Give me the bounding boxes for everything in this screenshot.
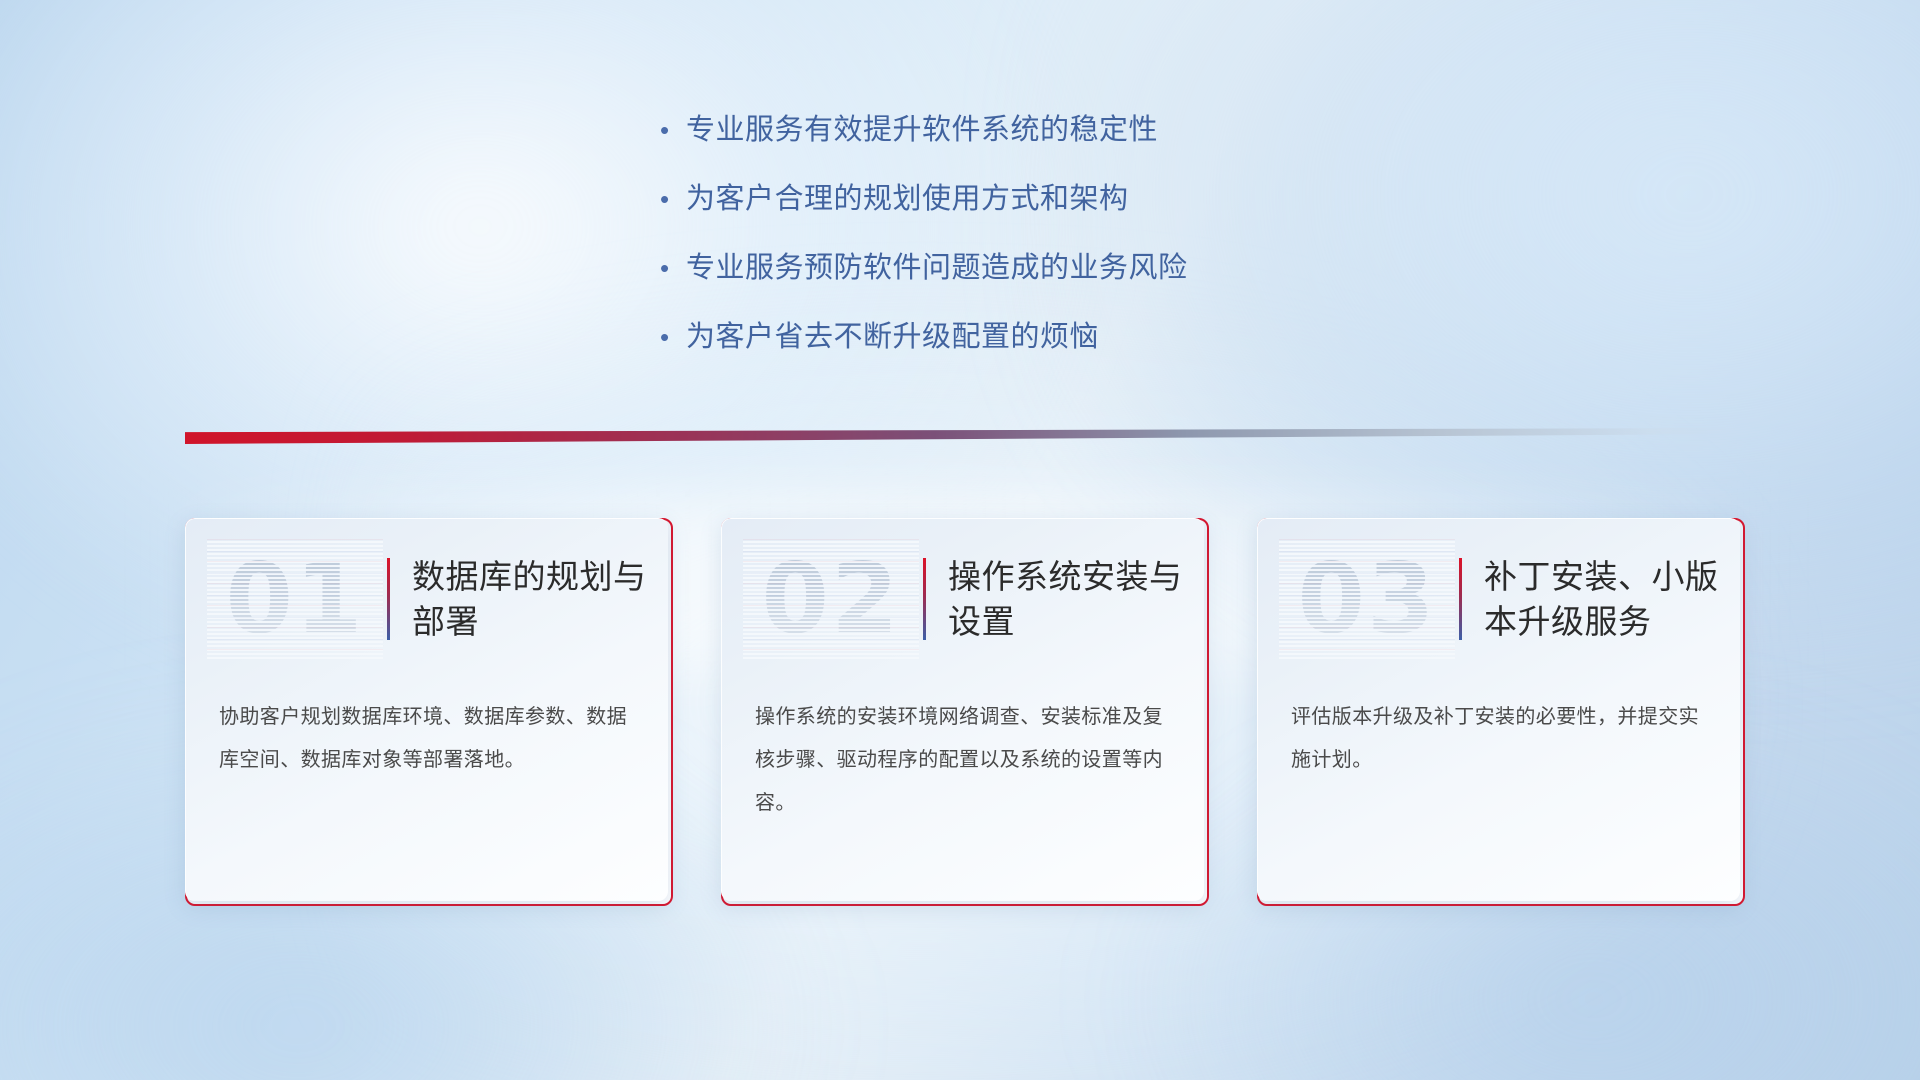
benefits-bullet-list: • 专业服务有效提升软件系统的稳定性 • 为客户合理的规划使用方式和架构 • 专… xyxy=(660,112,1420,388)
service-card-group: 01 数据库的规划与部署 协助客户规划数据库环境、数据库参数、数据库空间、数据库… xyxy=(185,518,1745,906)
service-card-03[interactable]: 03 补丁安装、小版本升级服务 评估版本升级及补丁安装的必要性，并提交实施计划。 xyxy=(1257,518,1745,906)
bullet-dot-icon: • xyxy=(660,181,686,217)
list-item: • 专业服务有效提升软件系统的稳定性 xyxy=(660,112,1420,148)
bullet-dot-icon: • xyxy=(660,250,686,286)
card-body-text: 操作系统的安装环境网络调查、安装标准及复核步骤、驱动程序的配置以及系统的设置等内… xyxy=(755,696,1179,825)
bullet-text: 专业服务有效提升软件系统的稳定性 xyxy=(686,112,1158,148)
list-item: • 为客户合理的规划使用方式和架构 xyxy=(660,181,1420,217)
card-body-text: 协助客户规划数据库环境、数据库参数、数据库空间、数据库对象等部署落地。 xyxy=(219,696,643,782)
service-card-02[interactable]: 02 操作系统安装与设置 操作系统的安装环境网络调查、安装标准及复核步骤、驱动程… xyxy=(721,518,1209,906)
card-title-divider xyxy=(923,558,926,640)
bullet-text: 专业服务预防软件问题造成的业务风险 xyxy=(686,250,1188,286)
bullet-dot-icon: • xyxy=(660,319,686,355)
bullet-text: 为客户合理的规划使用方式和架构 xyxy=(686,181,1129,217)
card-header: 03 补丁安装、小版本升级服务 xyxy=(1257,534,1745,664)
card-title-divider xyxy=(1459,558,1462,640)
card-header: 01 数据库的规划与部署 xyxy=(185,534,673,664)
service-card-01[interactable]: 01 数据库的规划与部署 协助客户规划数据库环境、数据库参数、数据库空间、数据库… xyxy=(185,518,673,906)
card-number-watermark: 01 xyxy=(207,539,383,659)
card-title: 补丁安装、小版本升级服务 xyxy=(1484,554,1745,644)
card-number-text: 02 xyxy=(762,539,901,659)
bullet-dot-icon: • xyxy=(660,112,686,148)
list-item: • 专业服务预防软件问题造成的业务风险 xyxy=(660,250,1420,286)
card-header: 02 操作系统安装与设置 xyxy=(721,534,1209,664)
card-number-text: 03 xyxy=(1298,539,1437,659)
card-title: 操作系统安装与设置 xyxy=(948,554,1209,644)
card-body-text: 评估版本升级及补丁安装的必要性，并提交实施计划。 xyxy=(1291,696,1715,782)
list-item: • 为客户省去不断升级配置的烦恼 xyxy=(660,319,1420,355)
card-number-watermark: 03 xyxy=(1279,539,1455,659)
card-number-text: 01 xyxy=(226,539,365,659)
bullet-text: 为客户省去不断升级配置的烦恼 xyxy=(686,319,1099,355)
card-title: 数据库的规划与部署 xyxy=(412,554,673,644)
card-title-divider xyxy=(387,558,390,640)
section-divider xyxy=(185,428,1745,444)
divider-line xyxy=(185,428,1745,444)
card-number-watermark: 02 xyxy=(743,539,919,659)
